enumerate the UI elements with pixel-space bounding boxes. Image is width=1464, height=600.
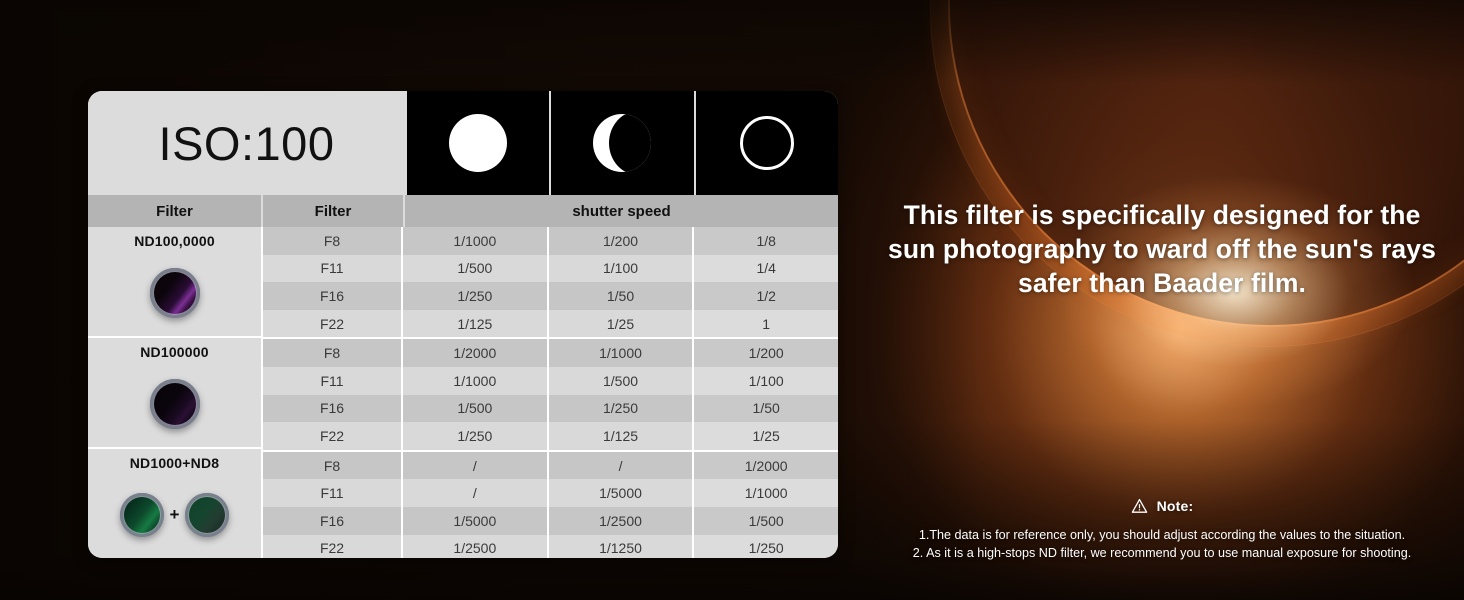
table-row: F16 1/250 1/50 1/2 <box>263 282 838 310</box>
filter-label-column: ND100,0000 ND100000 ND1000+ND8 + <box>88 227 263 558</box>
table-row: F16 1/500 1/250 1/50 <box>263 395 838 423</box>
shutter-cell: 1/500 <box>547 367 693 395</box>
shutter-cell: 1/2500 <box>547 507 693 535</box>
shutter-cell: 1/500 <box>403 395 547 423</box>
plus-symbol: + <box>170 505 180 525</box>
shutter-cell: 1/250 <box>692 535 838 558</box>
shutter-cell: 1/100 <box>547 255 693 283</box>
aperture-cell: F22 <box>263 422 403 450</box>
exposure-table-card: ISO:100 Filter Filter shutter speed ND <box>88 91 838 558</box>
filter-group-label-1: ND100000 <box>88 336 261 447</box>
warning-triangle-icon <box>1131 498 1148 514</box>
column-header-filter-left: Filter <box>88 195 263 227</box>
shutter-cell: 1/25 <box>547 310 693 338</box>
table-row: F8 1/1000 1/200 1/8 <box>263 227 838 255</box>
shutter-cell: 1/500 <box>403 255 547 283</box>
table-row: F8 1/2000 1/1000 1/200 <box>263 339 838 367</box>
aperture-cell: F11 <box>263 479 403 507</box>
shutter-cell: 1/4 <box>692 255 838 283</box>
data-group-0: F8 1/1000 1/200 1/8 F11 1/500 1/100 1/4 … <box>263 227 838 337</box>
shutter-cell: / <box>403 479 547 507</box>
shutter-cell: 1/125 <box>403 310 547 338</box>
aperture-cell: F16 <box>263 282 403 310</box>
shutter-cell: 1/1000 <box>692 479 838 507</box>
phase-cell-ring <box>694 91 838 195</box>
shutter-cell: 1/2500 <box>403 535 547 558</box>
shutter-cell: 1/50 <box>692 395 838 423</box>
shutter-cell: 1/250 <box>403 282 547 310</box>
filter-name: ND100,0000 <box>134 233 215 249</box>
table-row: F11 / 1/5000 1/1000 <box>263 479 838 507</box>
filter-disc-group <box>150 249 200 336</box>
shutter-cell: 1/100 <box>692 367 838 395</box>
aperture-cell: F11 <box>263 367 403 395</box>
shutter-speed-grid: F8 1/1000 1/200 1/8 F11 1/500 1/100 1/4 … <box>263 227 838 558</box>
shutter-cell: 1/125 <box>547 422 693 450</box>
eclipse-filter-infographic: ISO:100 Filter Filter shutter speed ND <box>0 0 1464 600</box>
shutter-cell: 1/200 <box>692 339 838 367</box>
table-row: F11 1/1000 1/500 1/100 <box>263 367 838 395</box>
table-row: F16 1/5000 1/2500 1/500 <box>263 507 838 535</box>
shutter-cell: / <box>403 452 547 480</box>
shutter-cell: 1/500 <box>692 507 838 535</box>
headline-text: This filter is specifically designed for… <box>880 198 1444 300</box>
nd-filter-disc-icon <box>185 493 229 537</box>
table-row: F8 / / 1/2000 <box>263 452 838 480</box>
aperture-cell: F22 <box>263 310 403 338</box>
shutter-cell: 1/1250 <box>547 535 693 558</box>
shutter-cell: 1/1000 <box>403 367 547 395</box>
phase-cell-full <box>405 91 549 195</box>
shutter-cell: 1/250 <box>547 395 693 423</box>
table-row: F22 1/2500 1/1250 1/250 <box>263 535 838 558</box>
filter-name: ND100000 <box>140 344 209 360</box>
note-title-label: Note: <box>1157 498 1194 514</box>
shutter-cell: 1/2000 <box>403 339 547 367</box>
iso-cell: ISO:100 <box>88 91 405 195</box>
filter-group-label-2: ND1000+ND8 + <box>88 447 261 558</box>
data-group-1: F8 1/2000 1/1000 1/200 F11 1/1000 1/500 … <box>263 337 838 449</box>
shutter-cell: 1/5000 <box>547 479 693 507</box>
column-header-filter-right: Filter <box>263 195 405 227</box>
aperture-cell: F22 <box>263 535 403 558</box>
phase-cell-crescent <box>549 91 693 195</box>
aperture-cell: F8 <box>263 227 403 255</box>
right-content-panel: This filter is specifically designed for… <box>860 0 1464 600</box>
aperture-cell: F16 <box>263 507 403 535</box>
nd-filter-disc-icon <box>120 493 164 537</box>
shutter-cell: 1/250 <box>403 422 547 450</box>
note-title-row: Note: <box>1131 498 1194 514</box>
note-line-1: 1.The data is for reference only, you sh… <box>860 527 1464 545</box>
nd-filter-disc-icon <box>150 268 200 318</box>
column-header-shutter-speed: shutter speed <box>405 195 838 227</box>
card-header: ISO:100 <box>88 91 838 195</box>
full-disc-icon <box>449 114 507 172</box>
aperture-cell: F8 <box>263 339 403 367</box>
ring-icon <box>740 116 794 170</box>
data-group-2: F8 / / 1/2000 F11 / 1/5000 1/1000 F16 1/… <box>263 450 838 558</box>
shutter-cell: 1/200 <box>547 227 693 255</box>
iso-label: ISO:100 <box>159 116 335 171</box>
note-line-2: 2. As it is a high-stops ND filter, we r… <box>860 545 1464 563</box>
shutter-cell: 1/8 <box>692 227 838 255</box>
column-header-row: Filter Filter shutter speed <box>88 195 838 227</box>
shutter-cell: 1/25 <box>692 422 838 450</box>
filter-disc-group <box>150 360 200 447</box>
shutter-cell: / <box>547 452 693 480</box>
nd-filter-disc-icon <box>150 379 200 429</box>
shutter-cell: 1/2000 <box>692 452 838 480</box>
card-body: ND100,0000 ND100000 ND1000+ND8 + <box>88 227 838 558</box>
table-row: F22 1/125 1/25 1 <box>263 310 838 338</box>
table-row: F11 1/500 1/100 1/4 <box>263 255 838 283</box>
shutter-cell: 1/5000 <box>403 507 547 535</box>
shutter-cell: 1/1000 <box>403 227 547 255</box>
shutter-cell: 1/1000 <box>547 339 693 367</box>
filter-name: ND1000+ND8 <box>130 455 220 471</box>
note-body: 1.The data is for reference only, you sh… <box>860 527 1464 562</box>
filter-disc-group: + <box>120 471 230 558</box>
filter-group-label-0: ND100,0000 <box>88 227 261 336</box>
shutter-cell: 1/50 <box>547 282 693 310</box>
shutter-cell: 1 <box>692 310 838 338</box>
aperture-cell: F11 <box>263 255 403 283</box>
shutter-cell: 1/2 <box>692 282 838 310</box>
note-block: Note: 1.The data is for reference only, … <box>860 498 1464 562</box>
aperture-cell: F8 <box>263 452 403 480</box>
crescent-icon <box>593 114 651 172</box>
table-row: F22 1/250 1/125 1/25 <box>263 422 838 450</box>
aperture-cell: F16 <box>263 395 403 423</box>
